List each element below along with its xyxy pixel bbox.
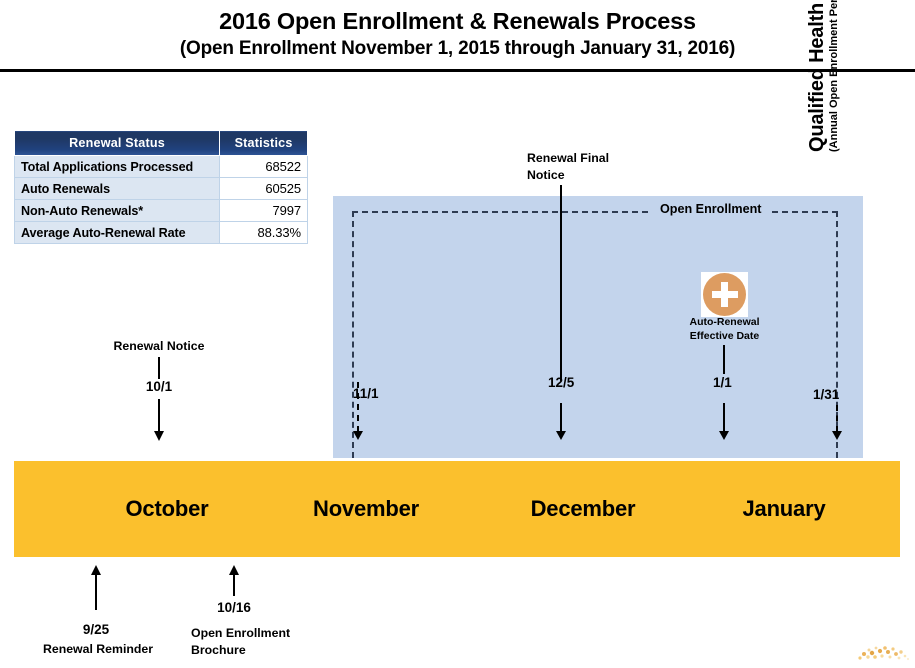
table-column-header-renewal-status: Renewal Status [15, 131, 220, 156]
renewal-notice-stem-upper [158, 357, 160, 379]
auto-renewal-caption-line1: Auto-Renewal [672, 316, 777, 330]
renewal-final-notice-line2: Notice [527, 167, 647, 184]
plus-icon-vertical-bar [721, 282, 728, 307]
qhp-title-main: Qualified Health Plan [806, 0, 829, 152]
month-label-october: October [107, 496, 227, 522]
table-cell-value: 68522 [220, 156, 308, 178]
table-row: Non-Auto Renewals* 7997 [15, 200, 308, 222]
renewal-final-notice-connector-line [560, 185, 562, 381]
table-cell-value: 60525 [220, 178, 308, 200]
table-cell-label: Average Auto-Renewal Rate [15, 222, 220, 244]
bottom-event-caption-10-16: Open Enrollment Brochure [191, 625, 351, 658]
open-enrollment-label: Open Enrollment [651, 202, 770, 216]
milestone-stem-1-31 [836, 405, 838, 432]
table-row: Total Applications Processed 68522 [15, 156, 308, 178]
bottom-event-stem-10-16 [233, 574, 235, 596]
milestone-stem-1-1-upper [723, 345, 725, 374]
milestone-arrow-1-31 [832, 431, 842, 440]
auto-renewal-effective-date-caption: Auto-Renewal Effective Date [672, 316, 777, 343]
table-row: Average Auto-Renewal Rate 88.33% [15, 222, 308, 244]
decorative-dots-arc-icon [855, 640, 915, 668]
milestone-arrow-1-1 [719, 431, 729, 440]
milestone-stem-12-5 [560, 403, 562, 432]
renewal-final-notice-line1: Renewal Final [527, 150, 647, 167]
page-header: 2016 Open Enrollment & Renewals Process … [0, 0, 915, 68]
qualified-health-plan-vertical-title: Qualified Health Plan (Annual Open Enrol… [806, 0, 846, 152]
month-label-december: December [523, 496, 643, 522]
milestone-date-1-31: 1/31 [813, 387, 839, 402]
milestone-stem-11-1 [357, 382, 359, 432]
renewal-final-notice-label: Renewal Final Notice [527, 150, 647, 183]
table-header-row: Renewal Status Statistics [15, 131, 308, 156]
bottom-event-date-9-25: 9/25 [56, 622, 136, 637]
milestone-stem-1-1 [723, 403, 725, 432]
bottom-event-caption-10-16-line1: Open Enrollment [191, 625, 351, 642]
page-subtitle: (Open Enrollment November 1, 2015 throug… [0, 38, 915, 60]
month-label-january: January [724, 496, 844, 522]
milestone-arrow-12-5 [556, 431, 566, 440]
table-cell-label: Auto Renewals [15, 178, 220, 200]
renewal-notice-stem-lower [158, 399, 160, 432]
bottom-event-caption-9-25: Renewal Reminder [28, 641, 168, 658]
table-cell-label: Total Applications Processed [15, 156, 220, 178]
bottom-event-date-10-16: 10/16 [194, 600, 274, 615]
table-cell-value: 88.33% [220, 222, 308, 244]
renewal-notice-label: Renewal Notice [99, 339, 219, 353]
renewal-notice-arrow [154, 431, 164, 441]
milestone-date-1-1: 1/1 [713, 375, 732, 390]
renewal-statistics-table: Renewal Status Statistics Total Applicat… [14, 130, 308, 244]
auto-renewal-caption-line2: Effective Date [672, 330, 777, 344]
month-label-november: November [306, 496, 426, 522]
milestone-arrow-11-1 [353, 431, 363, 440]
renewal-notice-date: 10/1 [119, 379, 199, 394]
header-divider [0, 69, 915, 72]
bottom-event-stem-9-25 [95, 574, 97, 610]
qhp-title-subtitle: (Annual Open Enrollment Period) [828, 0, 840, 152]
bottom-event-caption-10-16-line2: Brochure [191, 642, 351, 659]
table-cell-label: Non-Auto Renewals* [15, 200, 220, 222]
milestone-date-12-5: 12/5 [548, 375, 574, 390]
table-column-header-statistics: Statistics [220, 131, 308, 156]
table-cell-value: 7997 [220, 200, 308, 222]
table-row: Auto Renewals 60525 [15, 178, 308, 200]
page-title: 2016 Open Enrollment & Renewals Process [0, 8, 915, 35]
